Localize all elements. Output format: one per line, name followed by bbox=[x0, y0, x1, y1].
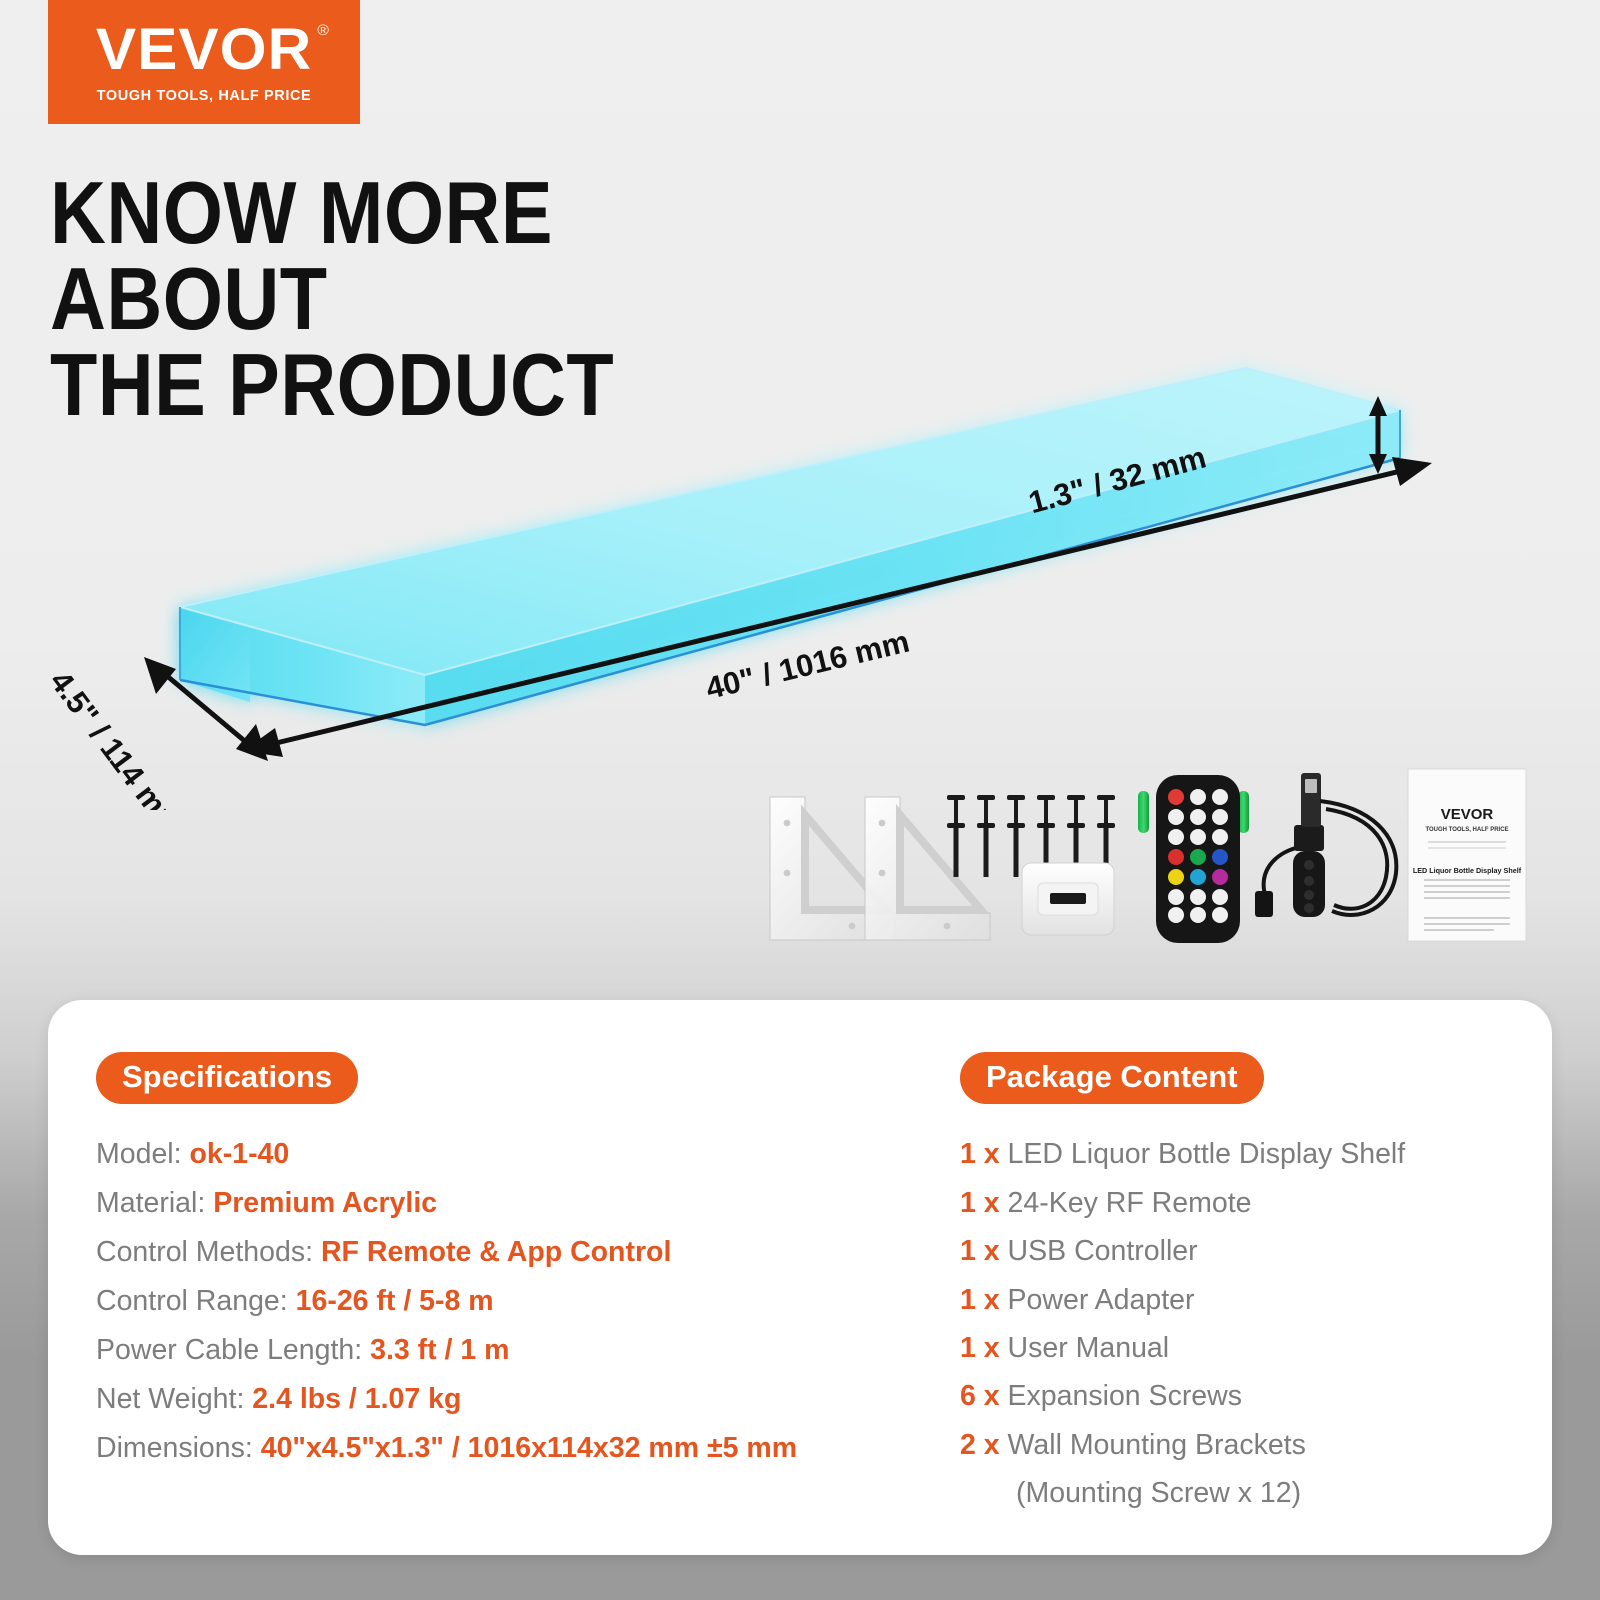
package-item-qty: 6 x bbox=[960, 1380, 1008, 1412]
spec-label: Net Weight: bbox=[96, 1383, 252, 1415]
package-item: 1 x User Manual bbox=[960, 1324, 1520, 1372]
package-item-qty: 1 x bbox=[960, 1235, 1008, 1267]
spec-row: Control Range: 16-26 ft / 5-8 m bbox=[96, 1277, 956, 1326]
usb-power-adapter bbox=[1022, 863, 1114, 935]
spec-value: 2.4 lbs / 1.07 kg bbox=[252, 1383, 461, 1415]
spec-row: Material: Premium Acrylic bbox=[96, 1179, 956, 1228]
spec-label: Control Methods: bbox=[96, 1236, 321, 1268]
package-item-qty: 1 x bbox=[960, 1332, 1008, 1364]
depth-dimension-label: 4.5" / 114 mm bbox=[43, 664, 190, 810]
package-item-name: 24-Key RF Remote bbox=[1008, 1187, 1252, 1219]
spec-value: 3.3 ft / 1 m bbox=[370, 1334, 509, 1366]
spec-label: Model: bbox=[96, 1138, 189, 1170]
vevor-logo: VEVOR ® TOUGH TOOLS, HALF PRICE bbox=[48, 0, 360, 124]
spec-row: Model: ok-1-40 bbox=[96, 1130, 956, 1179]
specifications-heading: Specifications bbox=[96, 1052, 358, 1104]
package-item: 6 x Expansion Screws bbox=[960, 1372, 1520, 1420]
package-content-heading: Package Content bbox=[960, 1052, 1264, 1104]
registered-mark-icon: ® bbox=[317, 23, 330, 38]
svg-text:LED Liquor Bottle Display Shel: LED Liquor Bottle Display Shelf bbox=[1413, 866, 1522, 875]
spec-row: Power Cable Length: 3.3 ft / 1 m bbox=[96, 1326, 956, 1375]
spec-row: Control Methods: RF Remote & App Control bbox=[96, 1228, 956, 1277]
package-item-qty: 1 x bbox=[960, 1138, 1008, 1170]
rf-remote bbox=[1156, 775, 1240, 943]
package-item-name: Wall Mounting Brackets bbox=[1008, 1429, 1306, 1461]
info-card: Specifications Model: ok-1-40Material: P… bbox=[48, 1000, 1552, 1555]
svg-text:TOUGH TOOLS, HALF PRICE: TOUGH TOOLS, HALF PRICE bbox=[1425, 827, 1508, 833]
package-item: 1 x LED Liquor Bottle Display Shelf bbox=[960, 1130, 1520, 1178]
package-item-qty: 1 x bbox=[960, 1284, 1008, 1316]
package-item-note: (Mounting Screw x 12) bbox=[960, 1469, 1520, 1517]
spec-label: Material: bbox=[96, 1187, 213, 1219]
spec-row: Dimensions: 40"x4.5"x1.3" / 1016x114x32 … bbox=[96, 1424, 956, 1473]
package-item: 1 x 24-Key RF Remote bbox=[960, 1179, 1520, 1227]
specifications-section: Specifications Model: ok-1-40Material: P… bbox=[96, 1052, 956, 1473]
spec-row: Net Weight: 2.4 lbs / 1.07 kg bbox=[96, 1375, 956, 1424]
package-item: 1 x USB Controller bbox=[960, 1227, 1520, 1275]
spec-label: Dimensions: bbox=[96, 1432, 261, 1464]
package-item-qty: 2 x bbox=[960, 1429, 1008, 1461]
spec-value: ok-1-40 bbox=[189, 1138, 289, 1170]
package-item-name: User Manual bbox=[1008, 1332, 1170, 1364]
wall-mounting-bracket bbox=[865, 797, 990, 940]
package-item-name: LED Liquor Bottle Display Shelf bbox=[1008, 1138, 1406, 1170]
product-illustration: 1.3" / 32 mm 40" / 1016 mm 4.5" / 114 mm bbox=[0, 330, 1470, 810]
svg-text:VEVOR: VEVOR bbox=[1441, 806, 1494, 823]
brand-name: VEVOR bbox=[96, 17, 312, 82]
package-item-name: Expansion Screws bbox=[1008, 1380, 1242, 1412]
accessories-group: VEVOR TOUGH TOOLS, HALF PRICE LED Liquor… bbox=[760, 755, 1550, 955]
infographic-page: VEVOR ® TOUGH TOOLS, HALF PRICE KNOW MOR… bbox=[0, 0, 1600, 1600]
usb-controller bbox=[1255, 773, 1396, 917]
package-item-name: Power Adapter bbox=[1008, 1284, 1195, 1316]
spec-label: Power Cable Length: bbox=[96, 1334, 370, 1366]
spec-value: Premium Acrylic bbox=[213, 1187, 437, 1219]
user-manual: VEVOR TOUGH TOOLS, HALF PRICE LED Liquor… bbox=[1408, 769, 1526, 941]
spec-value: 16-26 ft / 5-8 m bbox=[296, 1285, 494, 1317]
package-item-qty: 1 x bbox=[960, 1187, 1008, 1219]
spec-value: RF Remote & App Control bbox=[321, 1236, 671, 1268]
brand-wordmark: VEVOR ® bbox=[96, 21, 312, 79]
brand-tagline: TOUGH TOOLS, HALF PRICE bbox=[97, 88, 312, 104]
spec-label: Control Range: bbox=[96, 1285, 296, 1317]
package-item-name: USB Controller bbox=[1008, 1235, 1198, 1267]
package-item: 2 x Wall Mounting Brackets bbox=[960, 1421, 1520, 1469]
specifications-list: Model: ok-1-40Material: Premium AcrylicC… bbox=[96, 1130, 956, 1473]
spec-value: 40"x4.5"x1.3" / 1016x114x32 mm ±5 mm bbox=[261, 1432, 797, 1464]
page-title-line-1: KNOW MORE ABOUT bbox=[50, 170, 824, 342]
package-item: 1 x Power Adapter bbox=[960, 1276, 1520, 1324]
package-content-section: Package Content 1 x LED Liquor Bottle Di… bbox=[960, 1052, 1520, 1518]
package-content-list: 1 x LED Liquor Bottle Display Shelf1 x 2… bbox=[960, 1130, 1520, 1518]
